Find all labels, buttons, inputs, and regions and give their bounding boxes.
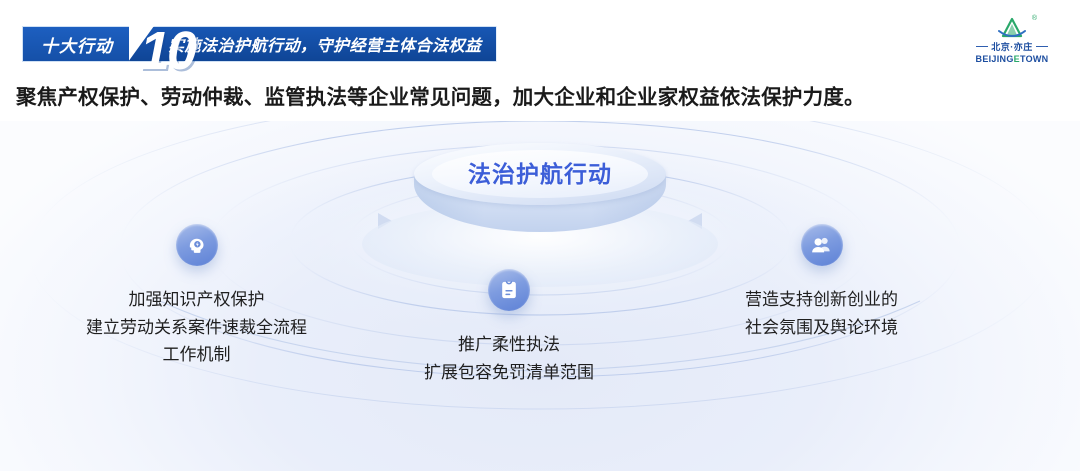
node-right-line-2: 社会氛围及舆论环境 xyxy=(745,314,898,342)
node-flexible-enforcement[interactable]: 推广柔性执法 扩展包容免罚清单范围 xyxy=(424,269,594,386)
central-podium: 法治护航行动 xyxy=(414,143,666,263)
logo-en-tail: TOWN xyxy=(1020,54,1049,64)
node-mid-line-1: 推广柔性执法 xyxy=(424,331,594,359)
people-group-icon xyxy=(801,224,843,266)
head-idea-icon xyxy=(176,224,218,266)
logo-en-text: BEIJINGETOWN xyxy=(976,54,1049,64)
header: 十大行动 实施法治护航行动，守护经营主体合法权益 10 ® 北京·亦庄 xyxy=(0,0,1080,72)
node-right-text: 营造支持创新创业的 社会氛围及舆论环境 xyxy=(745,286,898,341)
logo-cn-row: 北京·亦庄 xyxy=(976,40,1048,53)
logo-rule-right xyxy=(1036,46,1048,47)
logo-mountain-icon: ® xyxy=(995,17,1029,39)
node-mid-text: 推广柔性执法 扩展包容免罚清单范围 xyxy=(424,331,594,386)
action-banner-right-block: 实施法治护航行动，守护经营主体合法权益 xyxy=(128,26,497,62)
logo-cn-text: 北京·亦庄 xyxy=(991,40,1033,53)
node-left-line-2: 建立劳动关系案件速裁全流程 xyxy=(86,314,307,342)
node-left-line-3: 工作机制 xyxy=(86,341,307,369)
subtitle-text: 聚焦产权保护、劳动仲裁、监管执法等企业常见问题，加大企业和企业家权益依法保护力度… xyxy=(16,80,865,110)
logo-rule-left xyxy=(976,46,988,47)
logo-en-main: BEIJING xyxy=(976,54,1014,64)
action-banner-left-block: 十大行动 xyxy=(22,26,129,62)
registered-mark: ® xyxy=(1032,15,1037,22)
slide-root: 十大行动 实施法治护航行动，守护经营主体合法权益 10 ® 北京·亦庄 xyxy=(0,0,1080,471)
node-left-line-1: 加强知识产权保护 xyxy=(86,286,307,314)
action-tag-label: 十大行动 xyxy=(41,32,113,57)
node-mid-line-2: 扩展包容免罚清单范围 xyxy=(424,359,594,387)
node-right-line-1: 营造支持创新创业的 xyxy=(745,286,898,314)
node-social-environment[interactable]: 营造支持创新创业的 社会氛围及舆论环境 xyxy=(745,224,898,341)
document-checklist-icon xyxy=(488,269,530,311)
node-left-text: 加强知识产权保护 建立劳动关系案件速裁全流程 工作机制 xyxy=(86,286,307,369)
node-intellectual-property[interactable]: 加强知识产权保护 建立劳动关系案件速裁全流程 工作机制 xyxy=(86,224,307,369)
podium-title: 法治护航行动 xyxy=(414,155,666,189)
action-title-label: 实施法治护航行动，守护经营主体合法权益 xyxy=(168,32,482,56)
action-banner: 十大行动 实施法治护航行动，守护经营主体合法权益 10 xyxy=(22,26,497,62)
logo: ® 北京·亦庄 BEIJINGETOWN xyxy=(960,14,1064,66)
diagram-stage: 法治护航行动 加强知识产权保护 建立劳动关系案件速裁全流程 工作机制 xyxy=(0,121,1080,471)
